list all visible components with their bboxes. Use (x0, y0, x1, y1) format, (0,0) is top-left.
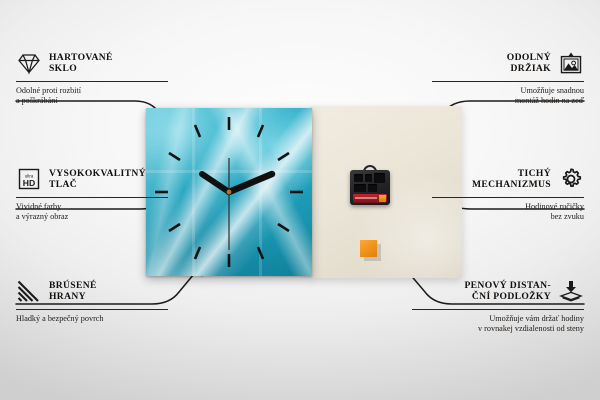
feature-title: PENOVÝ DISTAN- ČNÍ PODLOŽKY (464, 280, 551, 303)
feature-header: PENOVÝ DISTAN- ČNÍ PODLOŽKY (412, 276, 584, 306)
mechanism-slot (354, 184, 366, 192)
mechanism-battery (353, 194, 387, 203)
clock-dial (146, 108, 312, 276)
mechanism-slot (368, 184, 377, 192)
hour-tick (258, 247, 263, 259)
hour-tick (195, 247, 200, 259)
mechanism-slot (354, 174, 363, 182)
feature-title: VYSOKOKVALITNÝ TLAČ (49, 168, 146, 191)
svg-text:HD: HD (23, 178, 35, 188)
divider (432, 197, 584, 198)
hour-tick (169, 153, 180, 160)
hour-tick (278, 224, 289, 231)
infographic-canvas: HARTOVANÉ SKLO Odolné proti rozbití a po… (0, 0, 600, 400)
feature-silent-mechanism: TICHÝ MECHANIZMUS Hodinové ručičky bez z… (432, 164, 584, 222)
feature-header: ultra HD VYSOKOKVALITNÝ TLAČ (16, 164, 168, 194)
diamond-icon (16, 51, 42, 75)
hour-tick (278, 153, 289, 160)
battery-label-band (355, 197, 377, 199)
clock-mechanism (350, 165, 390, 205)
clock-product-photo (146, 108, 312, 276)
feature-title: ODOLNÝ DRŽIAK (507, 52, 551, 75)
feature-title: TICHÝ MECHANIZMUS (472, 168, 551, 191)
feature-header: BRÚSENÉ HRANY (16, 276, 168, 306)
clock-center-pin (227, 190, 232, 195)
divider (16, 309, 168, 310)
feature-header: HARTOVANÉ SKLO (16, 48, 168, 78)
feature-polished-edges: BRÚSENÉ HRANY Hladký a bezpečný povrch (16, 276, 168, 324)
feature-durable-hanger: ODOLNÝ DRŽIAK Umožňuje snadnou montáž ho… (432, 48, 584, 106)
feature-header: TICHÝ MECHANIZMUS (432, 164, 584, 194)
mechanism-slot (365, 174, 372, 182)
divider (412, 309, 584, 310)
divider (16, 197, 168, 198)
feature-title: BRÚSENÉ HRANY (49, 280, 97, 303)
gear-icon (558, 167, 584, 191)
hour-tick (258, 125, 263, 137)
ultra-hd-badge-icon: ultra HD (16, 167, 42, 191)
hour-hand (229, 174, 272, 192)
hour-tick (195, 125, 200, 137)
minute-hand (202, 174, 229, 192)
battery-plus-terminal (379, 195, 386, 202)
feature-foam-spacers: PENOVÝ DISTAN- ČNÍ PODLOŽKY Umožňuje vám… (412, 276, 584, 334)
feature-header: ODOLNÝ DRŽIAK (432, 48, 584, 78)
divider (16, 81, 168, 82)
stacked-pads-arrow-icon (558, 279, 584, 303)
clock-dial-graphics (146, 108, 312, 276)
feature-tempered-glass: HARTOVANÉ SKLO Odolné proti rozbití a po… (16, 48, 168, 106)
polished-edge-lines-icon (16, 279, 42, 303)
feature-title: HARTOVANÉ SKLO (49, 52, 113, 75)
mechanism-body (350, 170, 390, 205)
picture-hanger-icon (558, 51, 584, 75)
foam-distance-pad (360, 240, 377, 257)
mechanism-slot (374, 173, 385, 183)
divider (432, 81, 584, 82)
hour-tick (169, 224, 180, 231)
feature-high-quality-print: ultra HD VYSOKOKVALITNÝ TLAČ Vividné far… (16, 164, 168, 222)
